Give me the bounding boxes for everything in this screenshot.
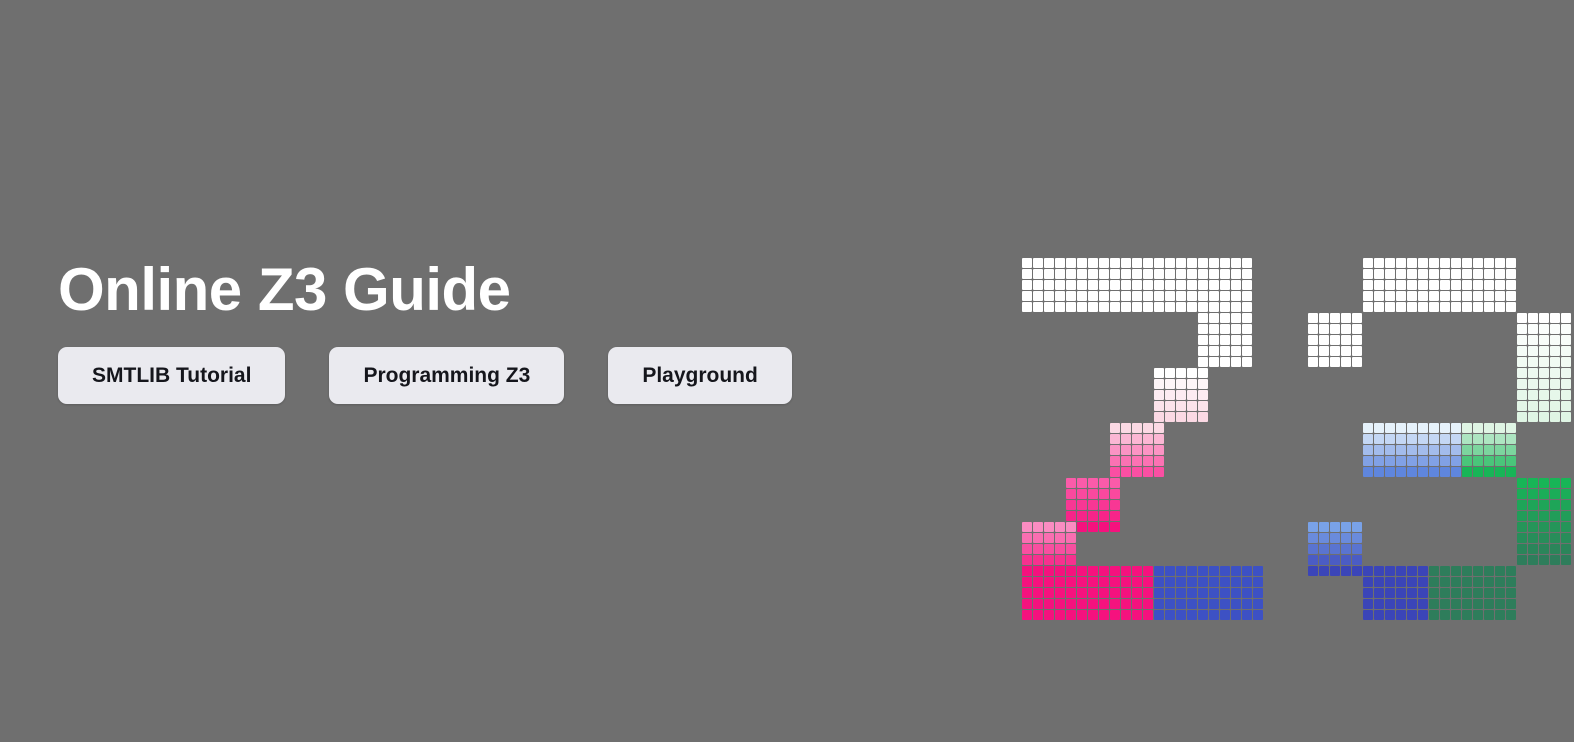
logo-pixel — [1484, 610, 1494, 620]
logo-pixel — [1528, 544, 1538, 554]
logo-pixel — [1363, 302, 1373, 312]
logo-pixel — [1440, 423, 1450, 433]
logo-pixel — [1539, 511, 1549, 521]
logo-pixel — [1220, 577, 1230, 587]
logo-pixel — [1341, 544, 1351, 554]
logo-pixel — [1231, 280, 1241, 290]
logo-pixel — [1242, 280, 1252, 290]
logo-pixel — [1429, 610, 1439, 620]
logo-pixel — [1088, 577, 1098, 587]
logo-pixel — [1429, 588, 1439, 598]
logo-pixel — [1495, 280, 1505, 290]
logo-pixel — [1473, 588, 1483, 598]
logo-pixel — [1132, 291, 1142, 301]
logo-pixel — [1198, 577, 1208, 587]
logo-pixel — [1396, 588, 1406, 598]
logo-pixel — [1066, 478, 1076, 488]
logo-pixel — [1363, 423, 1373, 433]
logo-pixel — [1209, 324, 1219, 334]
logo-pixel — [1132, 467, 1142, 477]
logo-pixel — [1198, 390, 1208, 400]
logo-pixel — [1143, 577, 1153, 587]
logo-pixel — [1407, 280, 1417, 290]
logo-pixel — [1385, 302, 1395, 312]
logo-pixel — [1473, 280, 1483, 290]
logo-pixel — [1473, 456, 1483, 466]
logo-pixel — [1561, 478, 1571, 488]
logo-pixel — [1550, 478, 1560, 488]
logo-pixel — [1451, 610, 1461, 620]
logo-pixel — [1066, 533, 1076, 543]
logo-pixel — [1363, 566, 1373, 576]
logo-pixel — [1495, 434, 1505, 444]
logo-pixel — [1066, 489, 1076, 499]
logo-pixel — [1187, 566, 1197, 576]
logo-pixel — [1220, 610, 1230, 620]
logo-pixel — [1176, 280, 1186, 290]
logo-pixel — [1517, 346, 1527, 356]
logo-pixel — [1451, 445, 1461, 455]
logo-pixel — [1440, 467, 1450, 477]
logo-pixel — [1484, 599, 1494, 609]
logo-pixel — [1165, 610, 1175, 620]
logo-pixel — [1154, 379, 1164, 389]
logo-pixel — [1495, 423, 1505, 433]
logo-pixel — [1209, 566, 1219, 576]
logo-pixel — [1242, 302, 1252, 312]
logo-pixel — [1066, 610, 1076, 620]
logo-pixel — [1363, 456, 1373, 466]
logo-pixel — [1484, 577, 1494, 587]
logo-pixel — [1209, 258, 1219, 268]
logo-pixel — [1022, 588, 1032, 598]
logo-pixel — [1396, 258, 1406, 268]
logo-pixel — [1110, 302, 1120, 312]
playground-button[interactable]: Playground — [608, 347, 792, 404]
logo-pixel — [1154, 423, 1164, 433]
logo-pixel — [1407, 610, 1417, 620]
logo-pixel — [1187, 588, 1197, 598]
logo-pixel — [1517, 357, 1527, 367]
logo-pixel — [1044, 588, 1054, 598]
logo-pixel — [1220, 258, 1230, 268]
logo-pixel — [1517, 555, 1527, 565]
logo-pixel — [1198, 346, 1208, 356]
logo-pixel — [1198, 599, 1208, 609]
logo-pixel — [1308, 335, 1318, 345]
logo-pixel — [1473, 423, 1483, 433]
logo-pixel — [1176, 302, 1186, 312]
logo-pixel — [1121, 588, 1131, 598]
logo-pixel — [1308, 544, 1318, 554]
logo-pixel — [1550, 544, 1560, 554]
logo-pixel — [1363, 434, 1373, 444]
logo-pixel — [1242, 258, 1252, 268]
smtlib-tutorial-button[interactable]: SMTLIB Tutorial — [58, 347, 285, 404]
logo-pixel — [1132, 269, 1142, 279]
logo-pixel — [1110, 610, 1120, 620]
logo-pixel — [1308, 555, 1318, 565]
logo-pixel — [1363, 280, 1373, 290]
logo-pixel — [1451, 258, 1461, 268]
logo-pixel — [1242, 269, 1252, 279]
logo-pixel — [1033, 269, 1043, 279]
logo-pixel — [1517, 379, 1527, 389]
logo-pixel — [1561, 313, 1571, 323]
logo-pixel — [1132, 577, 1142, 587]
logo-pixel — [1110, 258, 1120, 268]
logo-pixel — [1077, 577, 1087, 587]
logo-pixel — [1231, 346, 1241, 356]
logo-pixel — [1154, 610, 1164, 620]
logo-pixel — [1154, 368, 1164, 378]
logo-pixel — [1022, 522, 1032, 532]
logo-pixel — [1231, 291, 1241, 301]
logo-pixel — [1055, 522, 1065, 532]
logo-pixel — [1517, 401, 1527, 411]
logo-pixel — [1143, 269, 1153, 279]
logo-pixel — [1363, 467, 1373, 477]
logo-pixel — [1033, 258, 1043, 268]
logo-pixel — [1033, 555, 1043, 565]
logo-pixel — [1396, 269, 1406, 279]
logo-pixel — [1220, 588, 1230, 598]
logo-pixel — [1396, 302, 1406, 312]
logo-pixel — [1176, 577, 1186, 587]
logo-pixel — [1187, 610, 1197, 620]
logo-pixel — [1198, 313, 1208, 323]
logo-pixel — [1198, 401, 1208, 411]
logo-pixel — [1165, 577, 1175, 587]
logo-pixel — [1066, 269, 1076, 279]
logo-pixel — [1242, 346, 1252, 356]
logo-pixel — [1352, 335, 1362, 345]
logo-pixel — [1165, 588, 1175, 598]
logo-pixel — [1495, 610, 1505, 620]
logo-pixel — [1242, 599, 1252, 609]
logo-pixel — [1451, 302, 1461, 312]
logo-pixel — [1220, 324, 1230, 334]
logo-pixel — [1539, 401, 1549, 411]
logo-pixel — [1462, 445, 1472, 455]
logo-pixel — [1066, 566, 1076, 576]
logo-pixel — [1033, 291, 1043, 301]
logo-pixel — [1121, 445, 1131, 455]
logo-pixel — [1220, 335, 1230, 345]
logo-pixel — [1462, 599, 1472, 609]
logo-pixel — [1143, 566, 1153, 576]
logo-pixel — [1462, 566, 1472, 576]
logo-pixel — [1176, 379, 1186, 389]
logo-pixel — [1242, 313, 1252, 323]
logo-pixel — [1550, 489, 1560, 499]
logo-pixel — [1165, 269, 1175, 279]
logo-pixel — [1484, 258, 1494, 268]
logo-pixel — [1066, 291, 1076, 301]
logo-pixel — [1341, 313, 1351, 323]
logo-pixel — [1055, 280, 1065, 290]
logo-pixel — [1528, 555, 1538, 565]
logo-pixel — [1550, 390, 1560, 400]
logo-pixel — [1088, 291, 1098, 301]
logo-pixel — [1077, 489, 1087, 499]
logo-pixel — [1418, 566, 1428, 576]
logo-pixel — [1220, 280, 1230, 290]
logo-pixel — [1132, 302, 1142, 312]
logo-pixel — [1528, 324, 1538, 334]
logo-pixel — [1165, 401, 1175, 411]
logo-pixel — [1330, 566, 1340, 576]
logo-pixel — [1176, 599, 1186, 609]
logo-pixel — [1429, 467, 1439, 477]
logo-pixel — [1374, 434, 1384, 444]
logo-pixel — [1022, 566, 1032, 576]
logo-pixel — [1473, 566, 1483, 576]
logo-pixel — [1165, 412, 1175, 422]
logo-pixel — [1121, 434, 1131, 444]
logo-pixel — [1561, 390, 1571, 400]
logo-pixel — [1154, 445, 1164, 455]
logo-pixel — [1374, 280, 1384, 290]
logo-pixel — [1209, 313, 1219, 323]
logo-pixel — [1495, 269, 1505, 279]
logo-pixel — [1055, 258, 1065, 268]
logo-pixel — [1209, 610, 1219, 620]
logo-pixel — [1110, 445, 1120, 455]
logo-pixel — [1022, 302, 1032, 312]
logo-pixel — [1374, 566, 1384, 576]
logo-pixel — [1209, 291, 1219, 301]
logo-pixel — [1132, 610, 1142, 620]
logo-pixel — [1110, 467, 1120, 477]
logo-pixel — [1110, 291, 1120, 301]
logo-pixel — [1154, 280, 1164, 290]
logo-pixel — [1341, 522, 1351, 532]
logo-pixel — [1528, 478, 1538, 488]
logo-pixel — [1165, 379, 1175, 389]
logo-pixel — [1561, 500, 1571, 510]
logo-pixel — [1451, 456, 1461, 466]
logo-pixel — [1330, 555, 1340, 565]
logo-pixel — [1220, 291, 1230, 301]
logo-pixel — [1176, 291, 1186, 301]
logo-pixel — [1550, 335, 1560, 345]
logo-pixel — [1121, 467, 1131, 477]
logo-pixel — [1462, 610, 1472, 620]
logo-pixel — [1385, 577, 1395, 587]
logo-pixel — [1088, 478, 1098, 488]
logo-pixel — [1462, 467, 1472, 477]
logo-pixel — [1176, 269, 1186, 279]
programming-z3-button[interactable]: Programming Z3 — [329, 347, 564, 404]
logo-pixel — [1418, 423, 1428, 433]
logo-pixel — [1385, 456, 1395, 466]
logo-pixel — [1198, 280, 1208, 290]
logo-pixel — [1154, 467, 1164, 477]
logo-pixel — [1319, 335, 1329, 345]
logo-pixel — [1143, 280, 1153, 290]
logo-pixel — [1429, 434, 1439, 444]
logo-pixel — [1077, 478, 1087, 488]
logo-pixel — [1473, 599, 1483, 609]
logo-pixel — [1187, 302, 1197, 312]
logo-pixel — [1165, 599, 1175, 609]
logo-pixel — [1231, 258, 1241, 268]
logo-pixel — [1253, 588, 1263, 598]
logo-pixel — [1517, 500, 1527, 510]
logo-pixel — [1385, 610, 1395, 620]
logo-pixel — [1044, 610, 1054, 620]
logo-pixel — [1308, 566, 1318, 576]
logo-pixel — [1561, 522, 1571, 532]
logo-pixel — [1550, 368, 1560, 378]
logo-pixel — [1561, 368, 1571, 378]
logo-pixel — [1550, 313, 1560, 323]
logo-pixel — [1506, 456, 1516, 466]
logo-pixel — [1121, 566, 1131, 576]
logo-pixel — [1528, 412, 1538, 422]
logo-pixel — [1055, 555, 1065, 565]
logo-pixel — [1517, 368, 1527, 378]
logo-pixel — [1396, 456, 1406, 466]
logo-pixel — [1165, 368, 1175, 378]
logo-pixel — [1341, 533, 1351, 543]
logo-pixel — [1462, 434, 1472, 444]
logo-pixel — [1429, 566, 1439, 576]
logo-pixel — [1209, 357, 1219, 367]
logo-pixel — [1506, 566, 1516, 576]
logo-pixel — [1066, 258, 1076, 268]
logo-pixel — [1209, 599, 1219, 609]
logo-pixel — [1550, 412, 1560, 422]
logo-pixel — [1385, 269, 1395, 279]
logo-pixel — [1132, 445, 1142, 455]
logo-pixel — [1110, 423, 1120, 433]
logo-pixel — [1407, 588, 1417, 598]
logo-pixel — [1231, 588, 1241, 598]
logo-pixel — [1473, 467, 1483, 477]
logo-pixel — [1484, 467, 1494, 477]
logo-pixel — [1462, 577, 1472, 587]
logo-pixel — [1539, 544, 1549, 554]
logo-pixel — [1550, 401, 1560, 411]
logo-pixel — [1132, 456, 1142, 466]
logo-pixel — [1077, 302, 1087, 312]
logo-pixel — [1143, 434, 1153, 444]
logo-pixel — [1110, 522, 1120, 532]
logo-pixel — [1121, 280, 1131, 290]
logo-pixel — [1440, 588, 1450, 598]
logo-pixel — [1407, 269, 1417, 279]
logo-pixel — [1539, 346, 1549, 356]
logo-pixel — [1121, 291, 1131, 301]
logo-pixel — [1209, 346, 1219, 356]
hero-button-row: SMTLIB Tutorial Programming Z3 Playgroun… — [58, 347, 958, 404]
logo-pixel — [1396, 467, 1406, 477]
logo-pixel — [1495, 456, 1505, 466]
logo-pixel — [1066, 588, 1076, 598]
logo-pixel — [1055, 533, 1065, 543]
logo-pixel — [1209, 269, 1219, 279]
logo-pixel — [1209, 335, 1219, 345]
logo-pixel — [1154, 258, 1164, 268]
logo-pixel — [1088, 269, 1098, 279]
logo-pixel — [1143, 467, 1153, 477]
logo-pixel — [1418, 291, 1428, 301]
logo-pixel — [1110, 511, 1120, 521]
logo-pixel — [1077, 280, 1087, 290]
logo-pixel — [1429, 577, 1439, 587]
logo-pixel — [1396, 577, 1406, 587]
logo-pixel — [1099, 280, 1109, 290]
logo-pixel — [1429, 258, 1439, 268]
logo-pixel — [1396, 280, 1406, 290]
logo-pixel — [1099, 489, 1109, 499]
logo-pixel — [1517, 478, 1527, 488]
logo-pixel — [1110, 588, 1120, 598]
logo-pixel — [1077, 566, 1087, 576]
logo-pixel — [1099, 599, 1109, 609]
logo-pixel — [1462, 588, 1472, 598]
logo-pixel — [1528, 500, 1538, 510]
logo-pixel — [1121, 258, 1131, 268]
logo-pixel — [1407, 445, 1417, 455]
logo-pixel — [1143, 423, 1153, 433]
logo-pixel — [1385, 588, 1395, 598]
logo-pixel — [1022, 544, 1032, 554]
logo-pixel — [1418, 269, 1428, 279]
logo-pixel — [1418, 610, 1428, 620]
logo-pixel — [1077, 588, 1087, 598]
logo-pixel — [1033, 522, 1043, 532]
logo-pixel — [1374, 456, 1384, 466]
logo-pixel — [1077, 522, 1087, 532]
logo-pixel — [1495, 291, 1505, 301]
logo-pixel — [1385, 566, 1395, 576]
logo-pixel — [1561, 412, 1571, 422]
logo-pixel — [1352, 533, 1362, 543]
logo-pixel — [1352, 346, 1362, 356]
logo-pixel — [1429, 302, 1439, 312]
logo-pixel — [1308, 346, 1318, 356]
logo-pixel — [1187, 401, 1197, 411]
logo-pixel — [1121, 302, 1131, 312]
logo-pixel — [1561, 379, 1571, 389]
logo-pixel — [1121, 456, 1131, 466]
logo-pixel — [1495, 566, 1505, 576]
logo-pixel — [1352, 313, 1362, 323]
logo-pixel — [1385, 280, 1395, 290]
logo-pixel — [1429, 280, 1439, 290]
logo-pixel — [1517, 335, 1527, 345]
logo-pixel — [1231, 302, 1241, 312]
logo-pixel — [1209, 302, 1219, 312]
logo-pixel — [1539, 324, 1549, 334]
logo-pixel — [1539, 368, 1549, 378]
logo-pixel — [1407, 423, 1417, 433]
logo-pixel — [1319, 313, 1329, 323]
logo-pixel — [1044, 544, 1054, 554]
logo-pixel — [1539, 335, 1549, 345]
logo-pixel — [1451, 423, 1461, 433]
logo-pixel — [1506, 269, 1516, 279]
logo-pixel — [1088, 489, 1098, 499]
logo-pixel — [1176, 368, 1186, 378]
logo-pixel — [1440, 610, 1450, 620]
logo-pixel — [1187, 599, 1197, 609]
logo-pixel — [1440, 269, 1450, 279]
logo-pixel — [1495, 599, 1505, 609]
